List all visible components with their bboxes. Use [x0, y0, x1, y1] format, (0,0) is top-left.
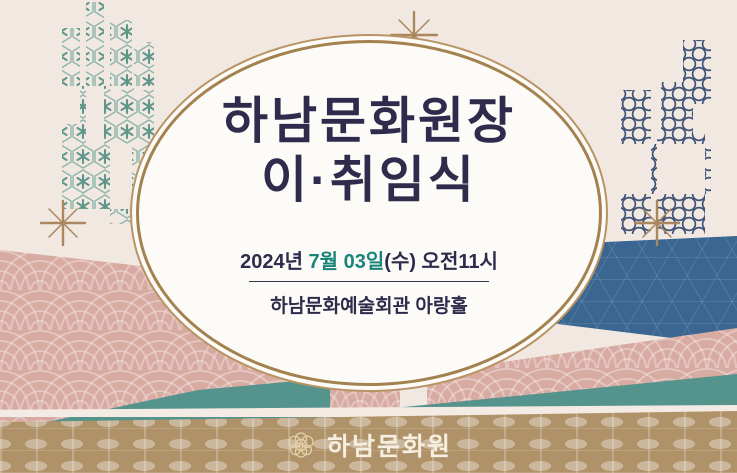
sparkle-star-icon — [36, 196, 90, 250]
event-title-line-2: 이·취임식 — [261, 154, 477, 207]
date-accent: 7월 03일 — [309, 251, 385, 273]
sparkle-star-icon — [630, 196, 684, 250]
central-oval-panel: 하남문화원장 이·취임식 2024년 7월 03일(수) 오전11시 하남문화예… — [136, 40, 602, 386]
event-title-line-1: 하남문화원장 — [222, 95, 516, 148]
event-datetime: 2024년 7월 03일(수) 오전11시 — [240, 245, 498, 274]
brand-name-text: 하남문화원 — [327, 427, 452, 463]
date-prefix: 2024년 — [240, 251, 308, 273]
event-venue: 하남문화예술회관 아랑홀 — [270, 291, 468, 318]
date-suffix: (수) 오전11시 — [384, 251, 498, 273]
text-divider — [249, 281, 489, 282]
event-poster: 하남문화원장 이·취임식 2024년 7월 03일(수) 오전11시 하남문화예… — [0, 0, 737, 473]
flower-emblem-icon — [285, 429, 317, 461]
brand-lockup: 하남문화원 — [0, 427, 737, 463]
